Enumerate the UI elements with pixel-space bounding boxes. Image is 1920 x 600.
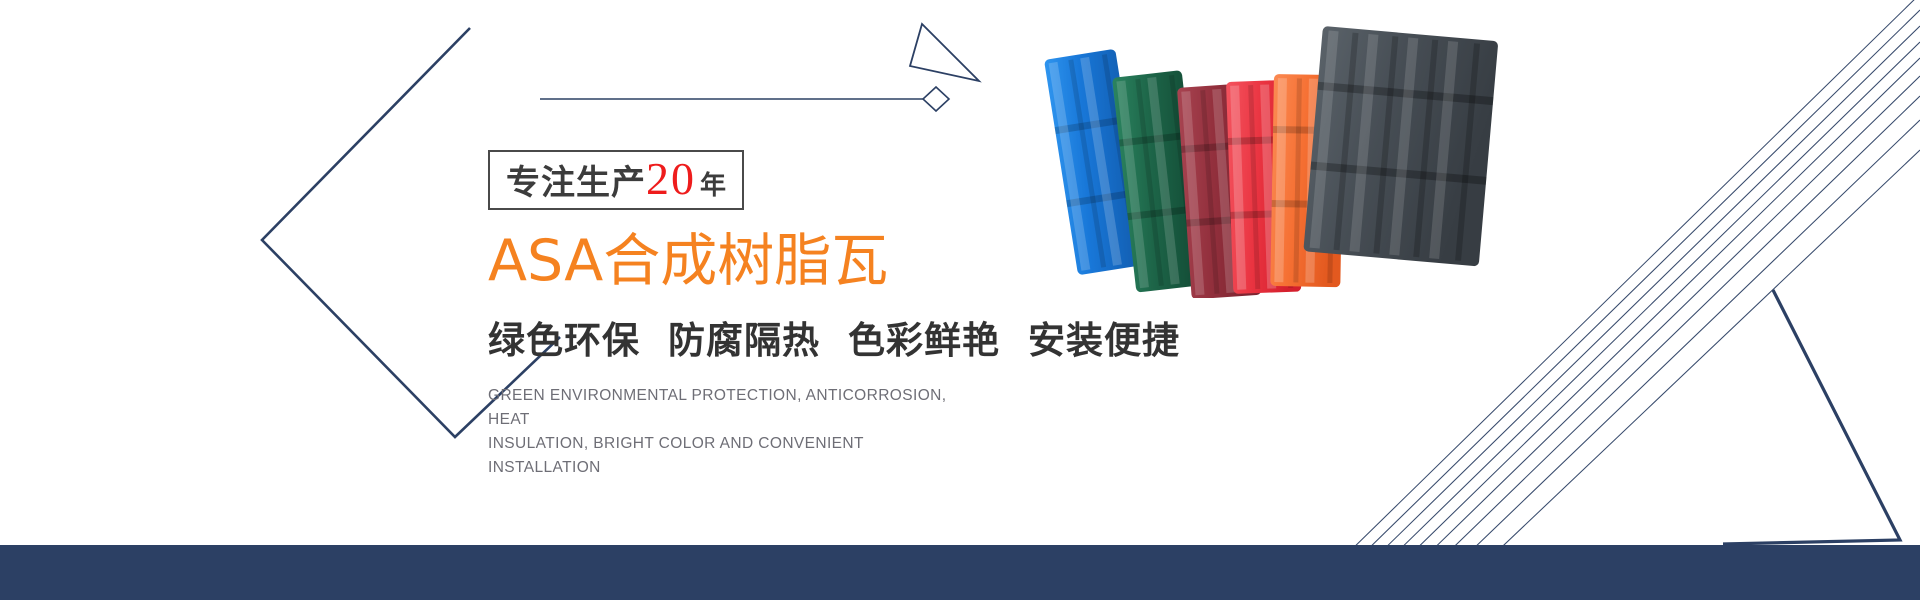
small-diamond-icon: [923, 87, 949, 111]
promo-banner: 专注生产20年 ASA合成树脂瓦 绿色环保防腐隔热色彩鲜艳安装便捷 GREEN …: [0, 0, 1920, 600]
bottom-navy-bar: [0, 545, 1920, 600]
subtitle-line-2: INSULATION, BRIGHT COLOR AND CONVENIENT …: [488, 432, 958, 480]
tile-dark-gray: [1303, 26, 1498, 266]
badge-prefix: 专注生产: [506, 163, 646, 203]
feature-item-2: 防腐隔热: [668, 319, 820, 362]
feature-item-1: 绿色环保: [488, 319, 640, 362]
banner-copy: 专注生产20年 ASA合成树脂瓦 绿色环保防腐隔热色彩鲜艳安装便捷 GREEN …: [488, 150, 1308, 480]
subtitle-english: GREEN ENVIRONMENTAL PROTECTION, ANTICORR…: [488, 384, 958, 480]
page-title: ASA合成树脂瓦: [488, 232, 1308, 292]
years-badge: 专注生产20年: [488, 150, 744, 210]
small-triangle-icon: [910, 24, 979, 81]
feature-item-4: 安装便捷: [1028, 319, 1180, 362]
large-triangle-outline: [1723, 290, 1900, 544]
feature-list: 绿色环保防腐隔热色彩鲜艳安装便捷: [488, 310, 1308, 364]
subtitle-line-1: GREEN ENVIRONMENTAL PROTECTION, ANTICORR…: [488, 384, 958, 432]
feature-item-3: 色彩鲜艳: [848, 319, 1000, 362]
badge-unit: 年: [696, 171, 726, 201]
badge-number: 20: [646, 153, 696, 204]
